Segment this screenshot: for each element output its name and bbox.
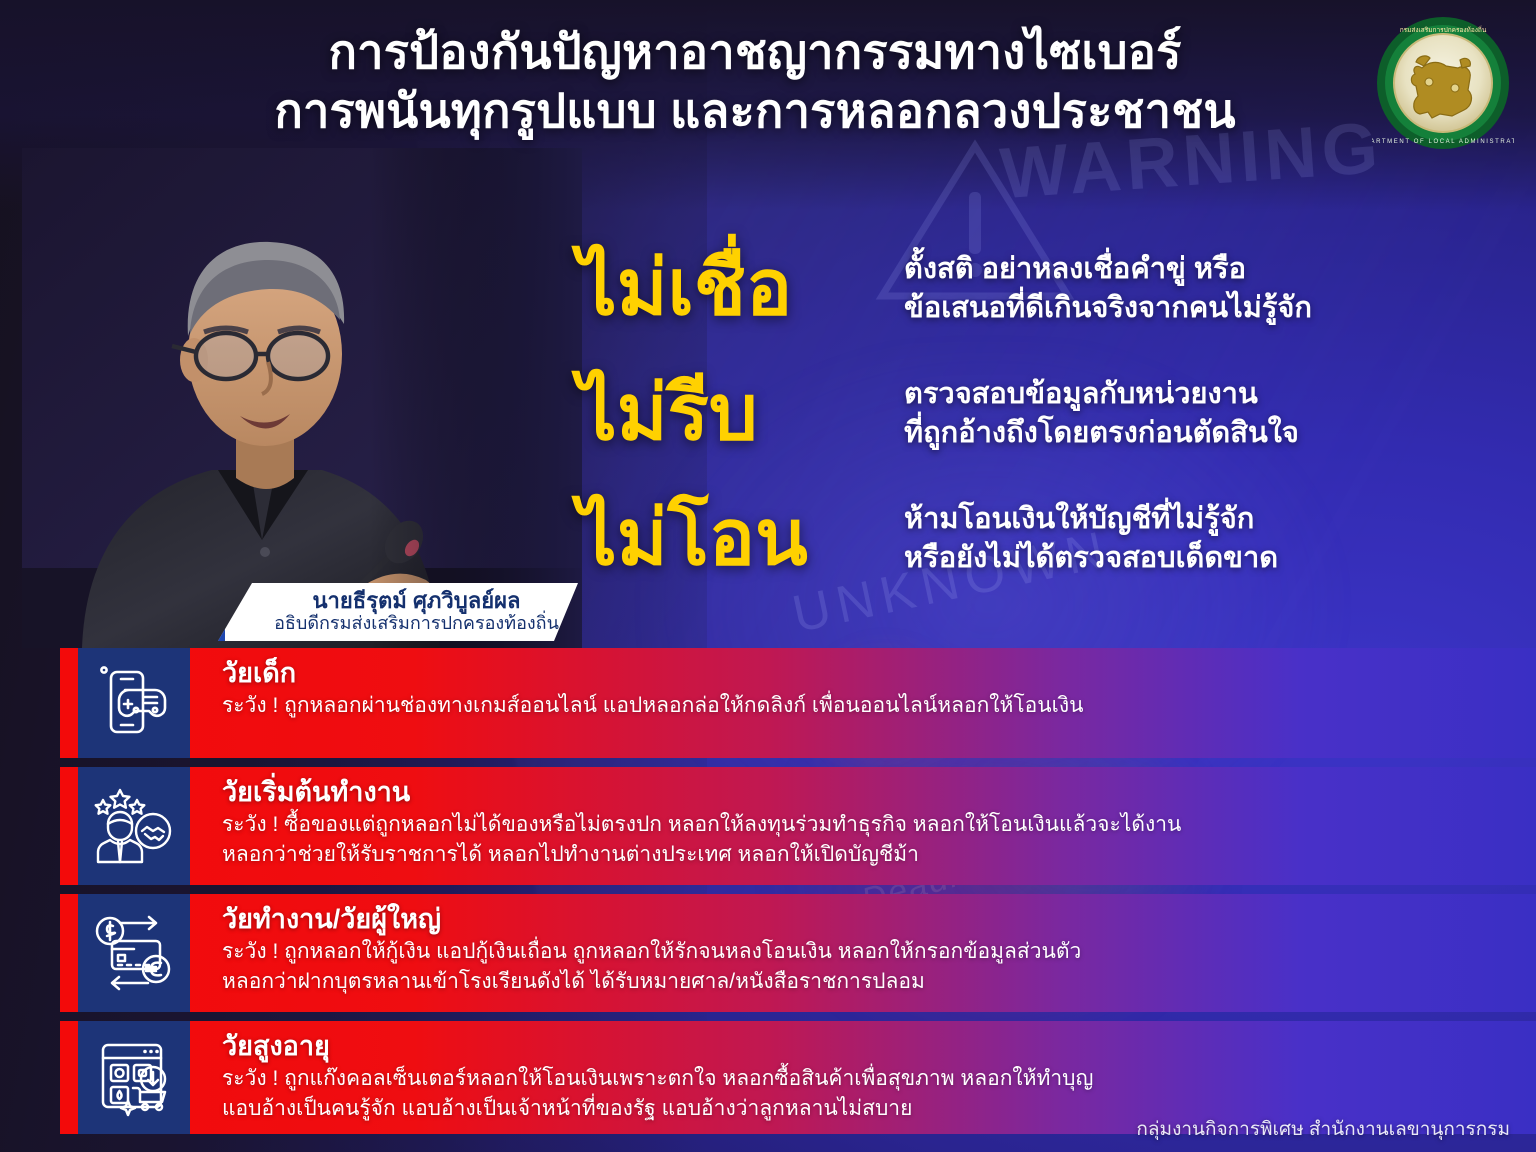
speaker-photo [22, 148, 582, 648]
footer-credit: กลุ่มงานกิจการพิเศษ สำนักงานเลขานุการกรม [1136, 1114, 1510, 1144]
age-group-row-child: วัยเด็ก ระวัง ! ถูกหลอกผ่านช่องทางเกมส์อ… [60, 648, 1536, 758]
row-lead-strip [60, 767, 78, 885]
title-line-1: การป้องกันปัญหาอาชญากรรมทางไซเบอร์ [328, 25, 1181, 78]
speaker-name: นายธีรุตม์ ศุภวิบูลย์ผล [265, 588, 568, 613]
slogan-desc-3-line-2: หรือยังไม่ได้ตรวจสอบเด็ดขาด [904, 539, 1278, 578]
department-emblem-icon: กรมส่งเสริมการปกครองท้องถิ่น DEPARTMENT … [1372, 12, 1514, 154]
slogan-key-2: ไม่รีบ [578, 375, 878, 452]
row-body-child: วัยเด็ก ระวัง ! ถูกหลอกผ่านช่องทางเกมส์อ… [190, 648, 1536, 758]
online-shopping-cart-icon [95, 1039, 173, 1117]
title-line-2: การพนันทุกรูปแบบ และการหลอกลวงประชาชน [150, 81, 1360, 140]
row-body-working-adult: วัยทำงาน/วัยผู้ใหญ่ ระวัง ! ถูกหลอกให้กู… [190, 894, 1536, 1012]
slogan-key-3: ไม่โอน [578, 500, 878, 577]
row-body-early-career: วัยเริ่มต้นทำงาน ระวัง ! ซื้อของแต่ถูกหล… [190, 767, 1536, 885]
slogan-desc-2: ตรวจสอบข้อมูลกับหน่วยงาน ที่ถูกอ้างถึงโด… [904, 375, 1299, 453]
page-title: การป้องกันปัญหาอาชญากรรมทางไซเบอร์ การพน… [150, 22, 1360, 140]
slogan-desc-1-line-1: ตั้งสติ อย่าหลงเชื่อคำขู่ หรือ [904, 250, 1312, 289]
age-group-line2-early-career: หลอกว่าช่วยให้รับราชการได้ หลอกไปทำงานต่… [222, 840, 1536, 870]
slogan-desc-1: ตั้งสติ อย่าหลงเชื่อคำขู่ หรือ ข้อเสนอที… [904, 250, 1312, 328]
slogan-row-2: ไม่รีบ ตรวจสอบข้อมูลกับหน่วยงาน ที่ถูกอ้… [578, 351, 1478, 476]
icon-box-elderly [78, 1021, 190, 1134]
age-group-row-early-career: วัยเริ่มต้นทำงาน ระวัง ! ซื้อของแต่ถูกหล… [60, 767, 1536, 885]
slogan-desc-2-line-1: ตรวจสอบข้อมูลกับหน่วยงาน [904, 375, 1299, 414]
slogan-desc-3: ห้ามโอนเงินให้บัญชีที่ไม่รู้จัก หรือยังไ… [904, 500, 1278, 578]
slogan-desc-3-line-1: ห้ามโอนเงินให้บัญชีที่ไม่รู้จัก [904, 500, 1278, 539]
row-lead-strip [60, 648, 78, 758]
age-group-line2-working-adult: หลอกว่าฝากบุตรหลานเข้าโรงเรียนดังได้ ได้… [222, 967, 1536, 997]
age-group-title-working-adult: วัยทำงาน/วัยผู้ใหญ่ [222, 903, 1536, 937]
icon-box-early-career [78, 767, 190, 885]
slogan-desc-2-line-2: ที่ถูกอ้างถึงโดยตรงก่อนตัดสินใจ [904, 414, 1299, 453]
age-group-title-early-career: วัยเริ่มต้นทำงาน [222, 776, 1536, 810]
row-lead-strip [60, 1021, 78, 1134]
age-group-line1-working-adult: ระวัง ! ถูกหลอกให้กู้เงิน แอปกู้เงินเถื่… [222, 937, 1536, 967]
age-group-row-working-adult: วัยทำงาน/วัยผู้ใหญ่ ระวัง ! ถูกหลอกให้กู… [60, 894, 1536, 1012]
age-group-line1-elderly: ระวัง ! ถูกแก๊งคอลเซ็นเตอร์หลอกให้โอนเงิ… [222, 1064, 1536, 1094]
age-group-title-elderly: วัยสูงอายุ [222, 1030, 1536, 1064]
age-group-line1-early-career: ระวัง ! ซื้อของแต่ถูกหลอกไม่ได้ของหรือไม… [222, 810, 1536, 840]
smartphone-gamepad-icon [95, 664, 173, 742]
speaker-nameplate: นายธีรุตม์ ศุภวิบูลย์ผล อธิบดีกรมส่งเสริ… [218, 583, 578, 641]
slogan-row-1: ไม่เชื่อ ตั้งสติ อย่าหลงเชื่อคำขู่ หรือ … [578, 226, 1478, 351]
age-group-list: วัยเด็ก ระวัง ! ถูกหลอกผ่านช่องทางเกมส์อ… [60, 648, 1536, 1143]
row-lead-strip [60, 894, 78, 1012]
icon-box-child [78, 648, 190, 758]
slogan-desc-1-line-2: ข้อเสนอที่ดีเกินจริงจากคนไม่รู้จัก [904, 289, 1312, 328]
slogan-row-3: ไม่โอน ห้ามโอนเงินให้บัญชีที่ไม่รู้จัก ห… [578, 476, 1478, 601]
icon-box-working-adult [78, 894, 190, 1012]
age-group-title-child: วัยเด็ก [222, 657, 1536, 691]
speaker-role: อธิบดีกรมส่งเสริมการปกครองท้องถิ่น [265, 613, 568, 635]
slogan-key-1: ไม่เชื่อ [578, 250, 878, 327]
age-group-line1-child: ระวัง ! ถูกหลอกผ่านช่องทางเกมส์ออนไลน์ แ… [222, 691, 1536, 721]
svg-text:กรมส่งเสริมการปกครองท้องถิ่น: กรมส่งเสริมการปกครองท้องถิ่น [1400, 25, 1487, 34]
businessman-handshake-stars-icon [94, 786, 174, 866]
money-transfer-card-icon [94, 913, 174, 993]
slogan-block: ไม่เชื่อ ตั้งสติ อย่าหลงเชื่อคำขู่ หรือ … [578, 226, 1478, 601]
svg-text:DEPARTMENT OF LOCAL ADMINISTRA: DEPARTMENT OF LOCAL ADMINISTRATION [1372, 139, 1514, 145]
infographic-poster: WARNING UNKNOWN Deadline Accept [0, 0, 1536, 1152]
